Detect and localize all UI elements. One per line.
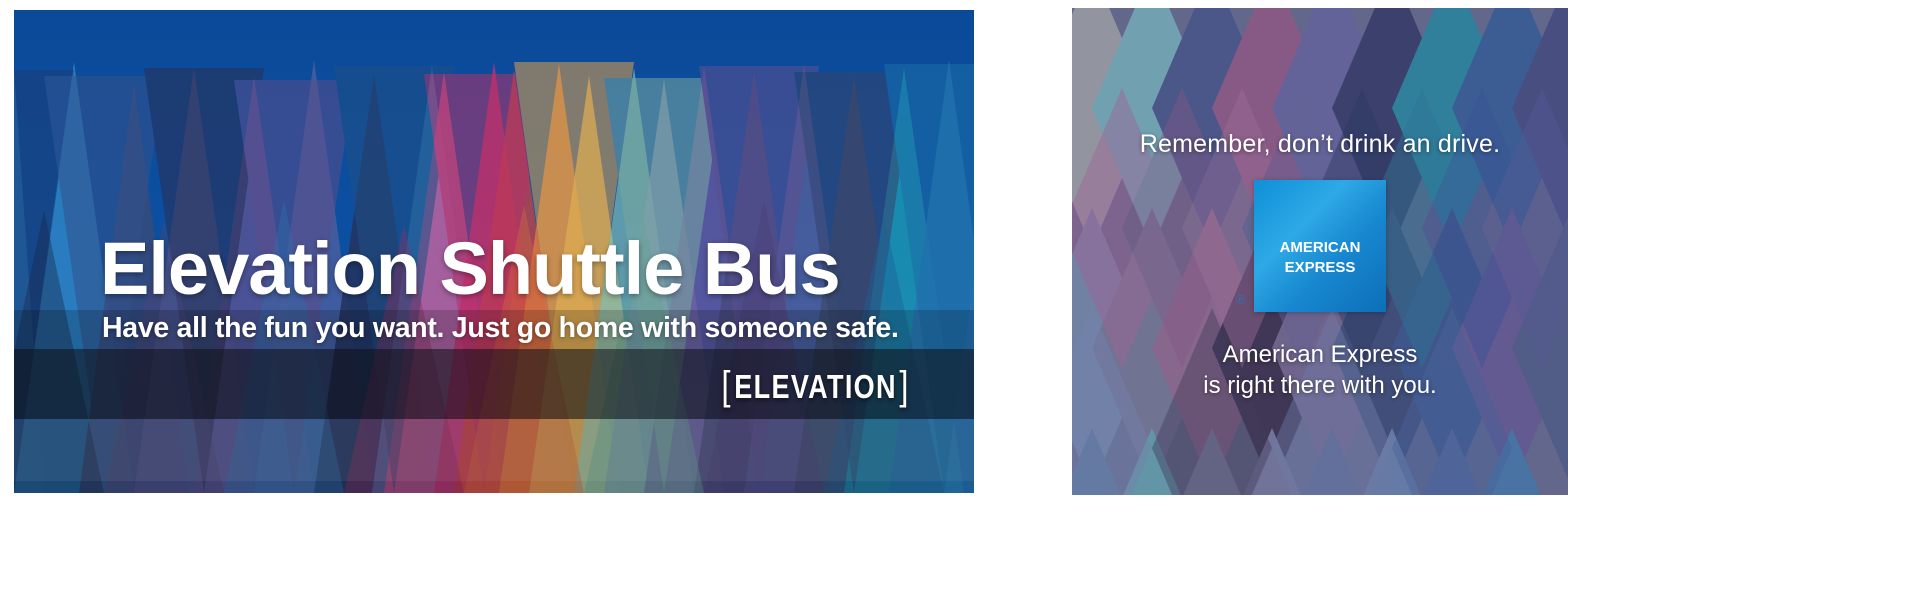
american-express-logo[interactable]: AMERICAN EXPRESS ® — [1254, 180, 1386, 312]
amex-tagline-line-2: is right there with you. — [1072, 371, 1568, 402]
drink-drive-message: Remember, don’t drink an drive. — [1072, 130, 1568, 159]
banner-subheadline: Have all the fun you want. Just go home … — [102, 312, 899, 345]
american-express-banner[interactable]: Remember, don’t drink an drive. AMERICAN… — [1072, 8, 1568, 495]
bottom-strip-overlay — [14, 419, 974, 481]
elevation-logo[interactable]: [ ELEVATION ] — [722, 364, 910, 409]
logo-close-bracket: ] — [900, 364, 910, 409]
registered-trademark-icon: ® — [1236, 292, 1246, 307]
amex-tagline-line-1: American Express — [1072, 340, 1568, 371]
amex-logo-line-1: AMERICAN — [1262, 240, 1378, 255]
amex-logo-line-2: EXPRESS — [1262, 260, 1378, 275]
amex-tagline: American Express is right there with you… — [1072, 340, 1568, 401]
banner-headline: Elevation Shuttle Bus — [100, 232, 840, 306]
amex-blue-box: AMERICAN EXPRESS — [1254, 180, 1386, 312]
logo-wordmark: ELEVATION — [732, 368, 900, 406]
elevation-shuttle-bus-banner[interactable]: Elevation Shuttle Bus Have all the fun y… — [14, 10, 974, 493]
logo-open-bracket: [ — [722, 364, 732, 409]
ad-pair-canvas: Elevation Shuttle Bus Have all the fun y… — [0, 0, 1920, 612]
